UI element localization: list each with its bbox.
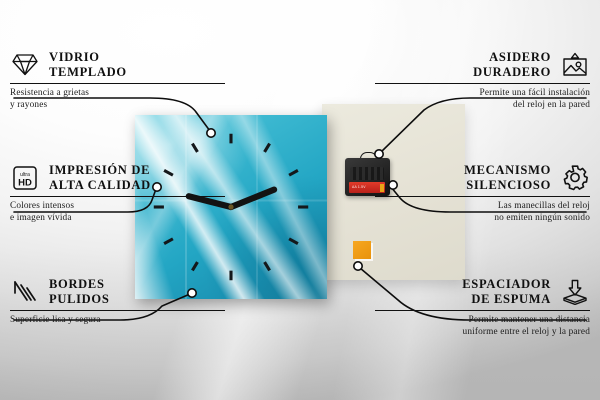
clock-tick [192,144,197,152]
feature-espaciador-de-espuma: ESPACIADOR DE ESPUMA Permite mantener un… [375,277,590,338]
feature-title: MECANISMO SILENCIOSO [464,163,551,192]
feature-vidrio-templado: VIDRIO TEMPLADO Resistencia a grietas y … [10,50,225,111]
feature-bordes-pulidos: BORDES PULIDOS Superficie lisa y segura [10,277,225,327]
feature-title: ESPACIADOR DE ESPUMA [462,277,551,306]
clock-tick [265,262,270,270]
feature-mecanismo-silencioso: MECANISMO SILENCIOSO Las manecillas del … [375,163,590,224]
feature-underline [375,196,590,197]
feature-description: Superficie lisa y segura [10,315,225,327]
feature-title: BORDES PULIDOS [49,277,109,306]
feature-title: ASIDERO DURADERO [473,50,551,79]
feature-asidero-duradero: ASIDERO DURADERO Permite una fácil insta… [375,50,590,111]
foam-spacer-pad [353,241,371,259]
feature-underline [10,196,225,197]
wall-hanging-frame-icon [560,51,590,78]
feature-underline [10,83,225,84]
feature-description: Colores intensos e imagen vívida [10,201,225,224]
clock-tick [289,239,298,244]
clock-center-pin [228,204,233,209]
feature-description: Permite una fácil instalación del reloj … [375,88,590,111]
clock-tick [289,170,298,175]
gear-icon [560,164,590,191]
feature-underline [375,310,590,311]
feature-description: Permite mantener una distancia uniforme … [375,315,590,338]
clock-tick [265,144,270,152]
clock-tick [192,262,197,270]
feature-impresion-alta-calidad: ultra HD IMPRESIÓN DE ALTA CALIDAD Color… [10,163,225,224]
clock-tick [164,239,173,244]
polished-edges-icon [10,278,40,305]
infographic-canvas: AA 1.5V [0,0,600,400]
diamond-icon [10,51,40,78]
foam-spacer-arrow-icon [560,278,590,305]
battery-label: AA 1.5V [352,185,366,189]
feature-description: Resistencia a grietas y rayones [10,88,225,111]
feature-underline [10,310,225,311]
ultra-hd-icon: ultra HD [10,164,40,191]
feature-description: Las manecillas del reloj no emiten ningú… [375,201,590,224]
ultra-hd-icon-main-text: HD [18,177,32,188]
feature-title: IMPRESIÓN DE ALTA CALIDAD [49,163,151,192]
feature-title: VIDRIO TEMPLADO [49,50,127,79]
feature-underline [375,83,590,84]
hand-minute [231,190,274,207]
